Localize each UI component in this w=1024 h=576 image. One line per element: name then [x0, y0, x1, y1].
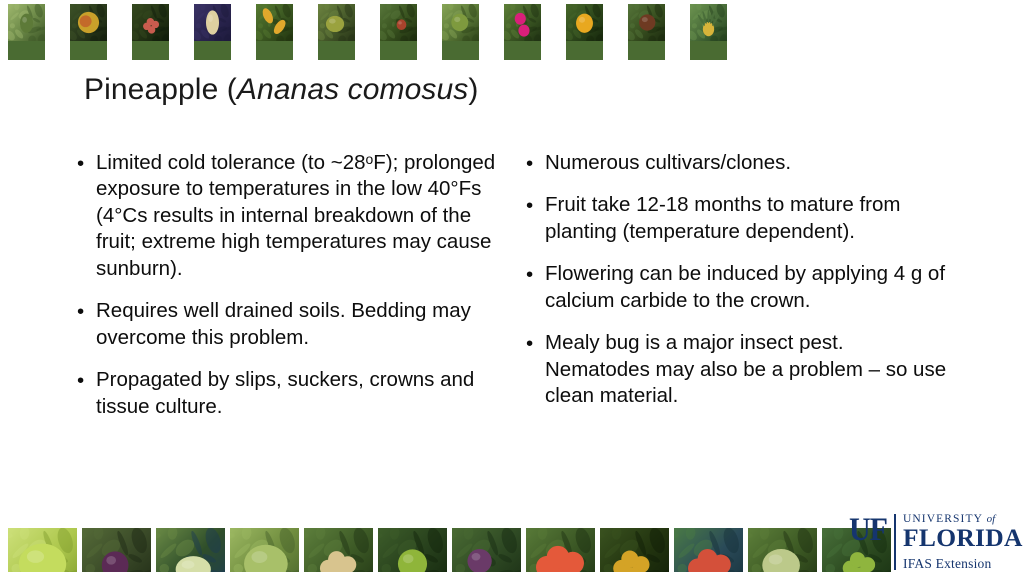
bullet-marker-icon: •	[526, 331, 533, 357]
photo-thumbnail-two-pale-fruits-on-tree	[304, 528, 373, 572]
title-common-name: Pineapple (	[84, 73, 237, 106]
bullet-text: Flowering can be induced by applying 4 g…	[545, 261, 953, 314]
photo-thumbnail-green-apple-on-branch	[378, 528, 447, 572]
logo-florida-word: FLORIDA	[903, 527, 1023, 551]
slide-canvas: Pineapple (Ananas comosus) •Limited cold…	[0, 0, 1024, 576]
logo-university-word: UNIVERSITY	[903, 513, 983, 525]
logo-ifas-extension: IFAS Extension	[903, 557, 1020, 571]
photo-thumbnail-papaya-cut-halves	[526, 528, 595, 572]
bullet-item: •Requires well drained soils. Bedding ma…	[74, 298, 506, 351]
photo-thumbnail-sapodilla-brown-fruit	[628, 4, 665, 60]
photo-thumbnail-soursop-green-fruit	[230, 528, 299, 572]
bullet-item: •Flowering can be induced by applying 4 …	[523, 261, 953, 314]
bullet-item: •Numerous cultivars/clones.	[523, 150, 953, 176]
photo-thumbnail-papaya-tree	[442, 4, 479, 60]
photo-thumbnail-mango-on-tree	[70, 4, 107, 60]
logo-of-word: of	[987, 513, 996, 525]
bullet-marker-icon: •	[526, 262, 533, 288]
photo-thumbnail-fruit-on-branch	[380, 4, 417, 60]
bullet-item: •Fruit take 12-18 months to mature from …	[523, 192, 953, 245]
photo-thumbnail-carambola-starfruit	[256, 4, 293, 60]
photo-thumbnail-yellow-fruit-clusters	[600, 528, 669, 572]
bullet-text: Limited cold tolerance (to ~28oF); prolo…	[96, 150, 506, 282]
uf-ifas-logo: UF UNIVERSITY of FLORIDA IFAS Extension	[849, 514, 1020, 570]
bullet-column-right: •Numerous cultivars/clones.•Fruit take 1…	[523, 150, 953, 410]
bullet-text: Numerous cultivars/clones.	[545, 150, 953, 176]
bullet-text: Fruit take 12-18 months to mature from p…	[545, 192, 953, 245]
bullet-item: •Limited cold tolerance (to ~28oF); prol…	[74, 150, 506, 282]
bullet-text: Mealy bug is a major insect pest. Nemato…	[545, 330, 953, 409]
bullet-marker-icon: •	[77, 368, 84, 394]
photo-thumbnail-banana-bunch	[8, 528, 77, 572]
title-scientific-name: Ananas comosus	[237, 73, 469, 106]
page-title: Pineapple (Ananas comosus)	[84, 73, 479, 107]
photo-thumbnail-purple-passionfruit	[82, 528, 151, 572]
photo-thumbnail-purple-fruit-foliage	[452, 528, 521, 572]
bullet-marker-icon: •	[77, 299, 84, 325]
photo-thumbnail-hands-holding-cut-fruit	[156, 528, 225, 572]
degree-symbol: o	[366, 151, 374, 167]
title-paren-close: )	[468, 73, 478, 106]
bullet-text: Propagated by slips, suckers, crowns and…	[96, 367, 506, 420]
bullet-item: •Propagated by slips, suckers, crowns an…	[74, 367, 506, 420]
photo-thumbnail-dragon-fruit-pink	[504, 4, 541, 60]
bullet-column-left: •Limited cold tolerance (to ~28oF); prol…	[74, 150, 506, 420]
bullet-marker-icon: •	[77, 151, 84, 177]
photo-thumbnail-lychee-cluster	[132, 4, 169, 60]
photo-thumbnail-avocado-on-tree	[8, 4, 45, 60]
bullet-item: •Mealy bug is a major insect pest. Nemat…	[523, 330, 953, 409]
logo-wordmark: UNIVERSITY of FLORIDA IFAS Extension	[903, 514, 1020, 570]
photo-thumbnail-sugar-apple-green	[748, 528, 817, 572]
photo-thumbnail-banana-flower-cluster	[194, 4, 231, 60]
filmstrip-bottom	[8, 528, 891, 572]
photo-thumbnail-hands-holding-cut-red	[674, 528, 743, 572]
uf-monogram: UF	[849, 514, 894, 546]
bullet-marker-icon: •	[526, 151, 533, 177]
photo-thumbnail-jackfruit-on-trunk	[318, 4, 355, 60]
logo-divider-rule	[894, 514, 896, 570]
filmstrip-top	[8, 4, 727, 62]
bullet-marker-icon: •	[526, 193, 533, 219]
bullet-text: Requires well drained soils. Bedding may…	[96, 298, 506, 351]
photo-thumbnail-pineapple-plant	[690, 4, 727, 60]
photo-thumbnail-yellow-fruit-on-tree	[566, 4, 603, 60]
